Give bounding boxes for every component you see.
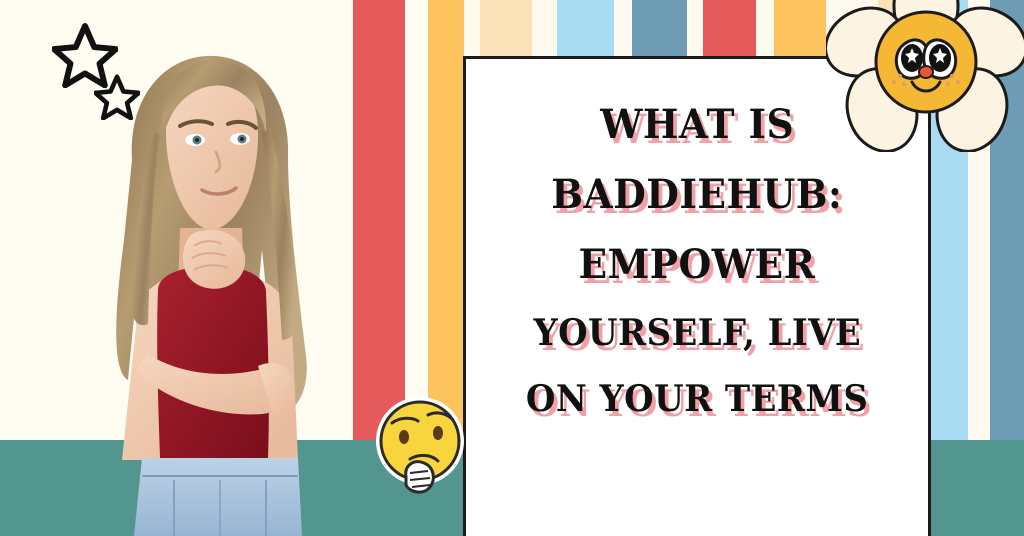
thinking-face-icon (366, 391, 474, 501)
headline-line-2: BADDIEHUB: (551, 175, 842, 215)
daisy-flower-icon (826, 0, 1024, 152)
headline-line-4: YOURSELF, LIVE (533, 315, 861, 351)
headline-line-1: WHAT IS (600, 105, 794, 145)
star-small-icon (94, 74, 140, 120)
headline-line-5: ON YOUR TERMS (526, 381, 868, 417)
headline-line-3: EMPOWER (579, 245, 816, 285)
banner-canvas: WHAT IS BADDIEHUB: EMPOWER YOURSELF, LIV… (0, 0, 1024, 536)
